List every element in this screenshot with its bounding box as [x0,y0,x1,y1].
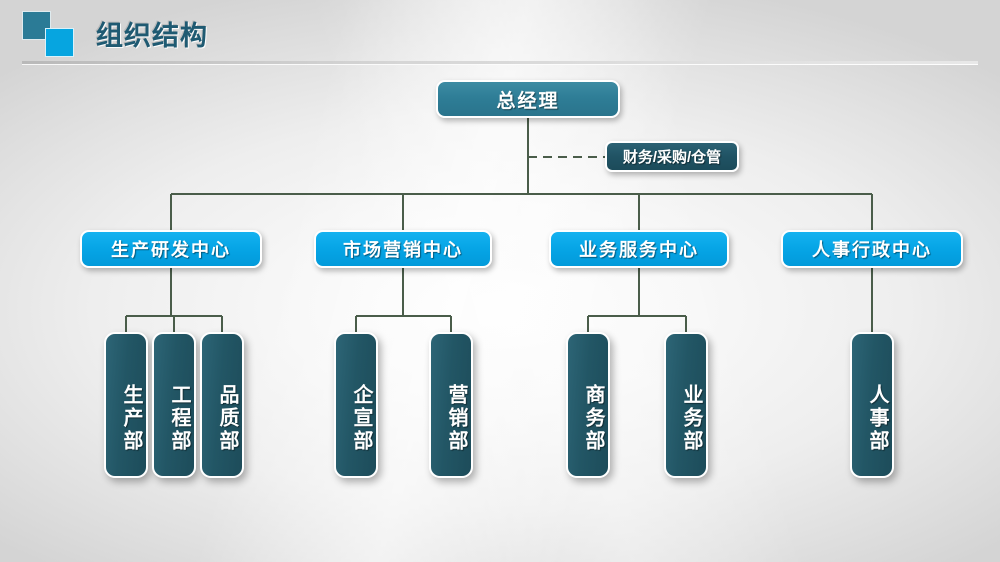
page-title: 组织结构 [96,14,208,53]
org-node-d4[interactable]: 企宣部 [334,332,378,478]
org-node-gm[interactable]: 总经理 [436,80,620,118]
org-node-d7[interactable]: 业务部 [664,332,708,478]
org-node-c1[interactable]: 生产研发中心 [80,230,262,268]
slide-canvas: 组织结构 [0,0,1000,562]
header-divider [22,61,978,65]
org-node-d1[interactable]: 生产部 [104,332,148,478]
org-node-d5[interactable]: 营销部 [429,332,473,478]
org-node-staff[interactable]: 财务/采购/仓管 [605,141,739,172]
org-node-c4[interactable]: 人事行政中心 [781,230,963,268]
org-node-d2[interactable]: 工程部 [152,332,196,478]
org-node-d3[interactable]: 品质部 [200,332,244,478]
org-node-d8[interactable]: 人事部 [850,332,894,478]
slide-header: 组织结构 [0,0,1000,66]
org-node-d6[interactable]: 商务部 [566,332,610,478]
org-node-c2[interactable]: 市场营销中心 [314,230,492,268]
org-node-c3[interactable]: 业务服务中心 [549,230,729,268]
logo-square-light-icon [45,28,74,57]
